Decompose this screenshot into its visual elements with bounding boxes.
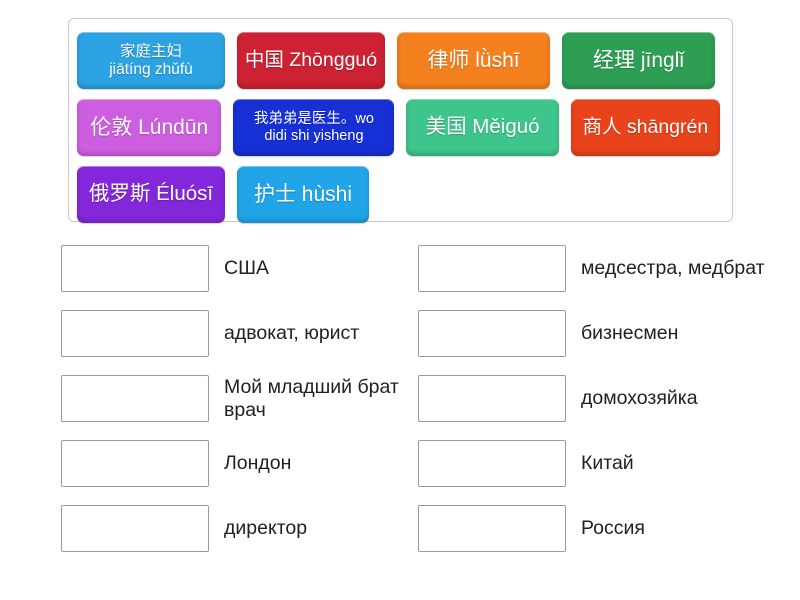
answer-label: директор [224, 517, 409, 540]
tile-wo-didi-shi-yisheng[interactable]: 我弟弟是医生。wo didi shi yisheng [233, 99, 394, 156]
tile-row: 俄罗斯 Éluósī 护士 hùshi [77, 166, 732, 223]
tile-jiating-zhufu[interactable]: 家庭主妇 jiātíng zhǔfù [77, 32, 225, 89]
answer-label: США [224, 257, 409, 280]
answer-label: Россия [581, 517, 766, 540]
drop-target[interactable] [418, 310, 566, 357]
drop-target[interactable] [61, 505, 209, 552]
answer-label: медсестра, медбрат [581, 257, 766, 280]
answer-row-housewife: домохозяйка [418, 375, 766, 422]
drop-target[interactable] [61, 245, 209, 292]
tile-line-2: jiātíng zhǔfù [109, 61, 193, 78]
drop-target[interactable] [418, 440, 566, 487]
tile-line-1: 伦敦 Lúndūn [90, 116, 208, 140]
answer-row-lawyer: адвокат, юрист [61, 310, 409, 357]
tile-line-2: didi shi yisheng [254, 128, 374, 144]
answer-row-businessman: бизнесмен [418, 310, 766, 357]
tile-shangren[interactable]: 商人 shāngrén [571, 99, 720, 156]
drop-target[interactable] [61, 375, 209, 422]
tile-line-1: 商人 shāngrén [582, 117, 708, 139]
tile-eluosi[interactable]: 俄罗斯 Éluósī [77, 166, 225, 223]
tile-line-1: 俄罗斯 Éluósī [89, 183, 213, 206]
answer-row-russia: Россия [418, 505, 766, 552]
tile-line-1: 我弟弟是医生。wo [254, 111, 374, 127]
tile-lushi[interactable]: 律师 lǜshī [397, 32, 550, 89]
answer-label: адвокат, юрист [224, 322, 409, 345]
answer-column-left: США адвокат, юрист Мой младший брат врач… [61, 245, 409, 570]
answer-row-china: Китай [418, 440, 766, 487]
drop-target[interactable] [418, 375, 566, 422]
answer-row-brother: Мой младший брат врач [61, 375, 409, 422]
tile-bank: 家庭主妇 jiātíng zhǔfù 中国 Zhōngguó 律师 lǜshī … [68, 18, 733, 222]
tile-row: 伦敦 Lúndūn 我弟弟是医生。wo didi shi yisheng 美国 … [77, 99, 732, 156]
tile-line-1: 经理 jīnglǐ [593, 49, 684, 73]
drop-target[interactable] [418, 505, 566, 552]
answer-label: домохозяйка [581, 387, 766, 410]
tile-row: 家庭主妇 jiātíng zhǔfù 中国 Zhōngguó 律师 lǜshī … [77, 32, 732, 89]
drop-target[interactable] [61, 310, 209, 357]
tile-line-1: 律师 lǜshī [427, 49, 519, 73]
tile-hushi[interactable]: 护士 hùshi [237, 166, 369, 223]
answer-column-right: медсестра, медбрат бизнесмен домохозяйка… [418, 245, 766, 570]
tile-line-1: 美国 Měiguó [426, 116, 540, 139]
tile-zhongguo[interactable]: 中国 Zhōngguó [237, 32, 385, 89]
tile-line-1: 护士 hùshi [254, 183, 352, 207]
tile-jingli[interactable]: 经理 jīnglǐ [562, 32, 715, 89]
drop-target[interactable] [61, 440, 209, 487]
tile-lundun[interactable]: 伦敦 Lúndūn [77, 99, 221, 156]
answer-label: Лондон [224, 452, 409, 475]
answer-row-nurse: медсестра, медбрат [418, 245, 766, 292]
answer-row-usa: США [61, 245, 409, 292]
drop-target[interactable] [418, 245, 566, 292]
answer-label: Мой младший брат врач [224, 376, 409, 422]
answer-row-london: Лондон [61, 440, 409, 487]
tile-line-1: 家庭主妇 [109, 43, 193, 60]
tile-meiguo[interactable]: 美国 Měiguó [406, 99, 558, 156]
tile-line-1: 中国 Zhōngguó [245, 50, 377, 72]
answer-label: бизнесмен [581, 322, 766, 345]
answer-row-director: директор [61, 505, 409, 552]
answer-label: Китай [581, 452, 766, 475]
